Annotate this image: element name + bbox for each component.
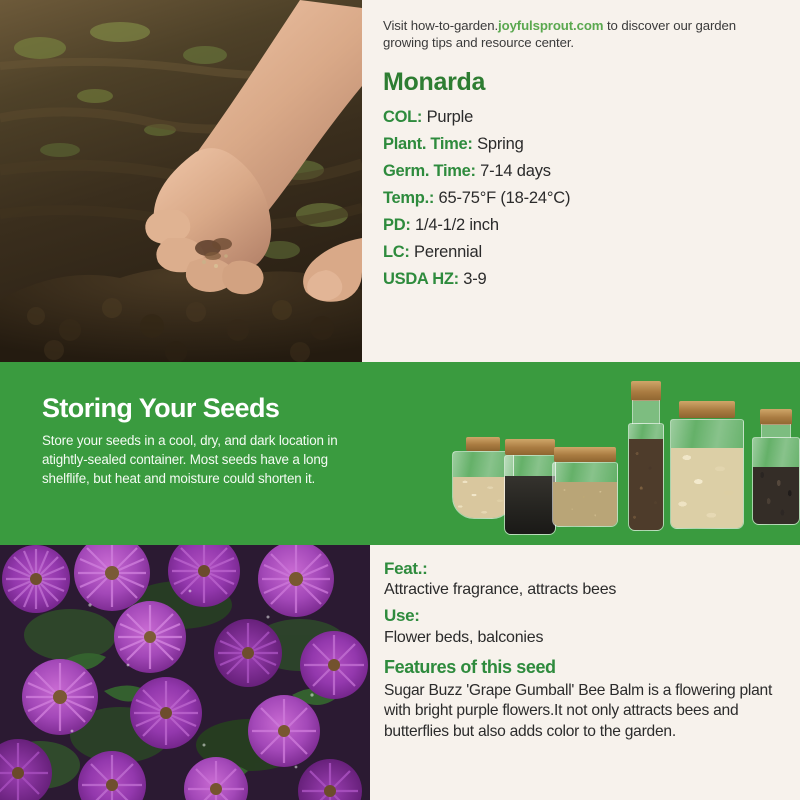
- spec-key: Plant. Time:: [383, 135, 473, 153]
- spec-key: LC:: [383, 243, 410, 261]
- seed-jar-6: [752, 409, 800, 525]
- seed-jar-2: [504, 439, 556, 535]
- top-section: Visit how-to-garden.joyfulsprout.com to …: [0, 0, 800, 362]
- spec-key: Germ. Time:: [383, 162, 476, 180]
- seed-fill: [753, 467, 799, 524]
- spec-row-temperature: Temp.: 65-75°F (18-24°C): [383, 186, 784, 211]
- spec-value: 3-9: [463, 270, 486, 288]
- spec-list: COL: Purple Plant. Time: Spring Germ. Ti…: [383, 105, 784, 292]
- visit-line: Visit how-to-garden.joyfulsprout.com to …: [383, 18, 784, 52]
- bottom-section: Feat.: Attractive fragrance, attracts be…: [0, 545, 800, 800]
- joyfulsprout-link[interactable]: joyfulsprout.com: [498, 18, 603, 33]
- cork-lid-icon: [554, 447, 616, 462]
- cork-lid-icon: [466, 437, 500, 451]
- storing-title: Storing Your Seeds: [42, 394, 372, 422]
- spec-value: 7-14 days: [480, 162, 551, 180]
- spec-value: 65-75°F (18-24°C): [439, 189, 571, 207]
- jar-body: [552, 462, 618, 527]
- spec-value: Spring: [477, 135, 524, 153]
- seed-jar-3: [552, 447, 618, 527]
- seed-fill: [553, 482, 617, 526]
- feat-value: Attractive fragrance, attracts bees: [384, 580, 786, 601]
- spec-key: USDA HZ:: [383, 270, 459, 288]
- visit-prefix-text: Visit how-to-garden.: [383, 18, 498, 33]
- spec-row-germ-time: Germ. Time: 7-14 days: [383, 159, 784, 184]
- cork-lid-icon: [760, 409, 792, 425]
- jar-body: [628, 423, 664, 531]
- bottom-info-panel: Feat.: Attractive fragrance, attracts be…: [370, 545, 800, 800]
- cork-lid-icon: [631, 381, 661, 401]
- jar-body: [504, 455, 556, 535]
- storing-body-text: Store your seeds in a cool, dry, and dar…: [42, 431, 372, 488]
- use-value: Flower beds, balconies: [384, 628, 786, 649]
- features-of-seed-description: Sugar Buzz 'Grape Gumball' Bee Balm is a…: [384, 681, 786, 743]
- seed-jar-5: [670, 401, 744, 529]
- plant-name-title: Monarda: [383, 68, 784, 97]
- seed-packet-infographic: Visit how-to-garden.joyfulsprout.com to …: [0, 0, 800, 800]
- use-block: Use: Flower beds, balconies: [384, 605, 786, 648]
- cork-lid-icon: [679, 401, 735, 418]
- spec-value: Purple: [427, 108, 474, 126]
- spec-row-color: COL: Purple: [383, 105, 784, 130]
- spec-row-life-cycle: LC: Perennial: [383, 240, 784, 265]
- jar-body: [670, 419, 744, 529]
- jar-body: [752, 437, 800, 525]
- purple-bee-balm-illustration: [0, 545, 370, 800]
- top-info-panel: Visit how-to-garden.joyfulsprout.com to …: [362, 0, 800, 362]
- spec-key: Temp.:: [383, 189, 434, 207]
- cork-lid-icon: [505, 439, 555, 455]
- features-block: Feat.: Attractive fragrance, attracts be…: [384, 558, 786, 601]
- hand-sowing-seeds-illustration: [0, 0, 362, 362]
- flower-photo: [0, 545, 370, 800]
- use-label: Use:: [384, 605, 786, 627]
- storing-text-block: Storing Your Seeds Store your seeds in a…: [42, 394, 372, 488]
- spec-value: Perennial: [414, 243, 482, 261]
- soil-photo: [0, 0, 362, 362]
- storing-seeds-band: Storing Your Seeds Store your seeds in a…: [0, 362, 800, 545]
- seed-jar-4: [628, 381, 664, 531]
- spec-key: COL:: [383, 108, 422, 126]
- spec-key: PD:: [383, 216, 411, 234]
- seed-fill: [505, 476, 555, 534]
- spec-value: 1/4-1/2 inch: [415, 216, 499, 234]
- feat-label: Feat.:: [384, 558, 786, 580]
- features-of-seed-title: Features of this seed: [384, 656, 786, 679]
- spec-row-plant-time: Plant. Time: Spring: [383, 132, 784, 157]
- seed-fill: [629, 439, 663, 530]
- spec-row-usda-zone: USDA HZ: 3-9: [383, 267, 784, 292]
- seed-jars-photo: [452, 368, 800, 545]
- seed-fill: [671, 448, 743, 528]
- jar-neck: [632, 400, 660, 424]
- jar-neck: [761, 424, 791, 438]
- spec-row-planting-depth: PD: 1/4-1/2 inch: [383, 213, 784, 238]
